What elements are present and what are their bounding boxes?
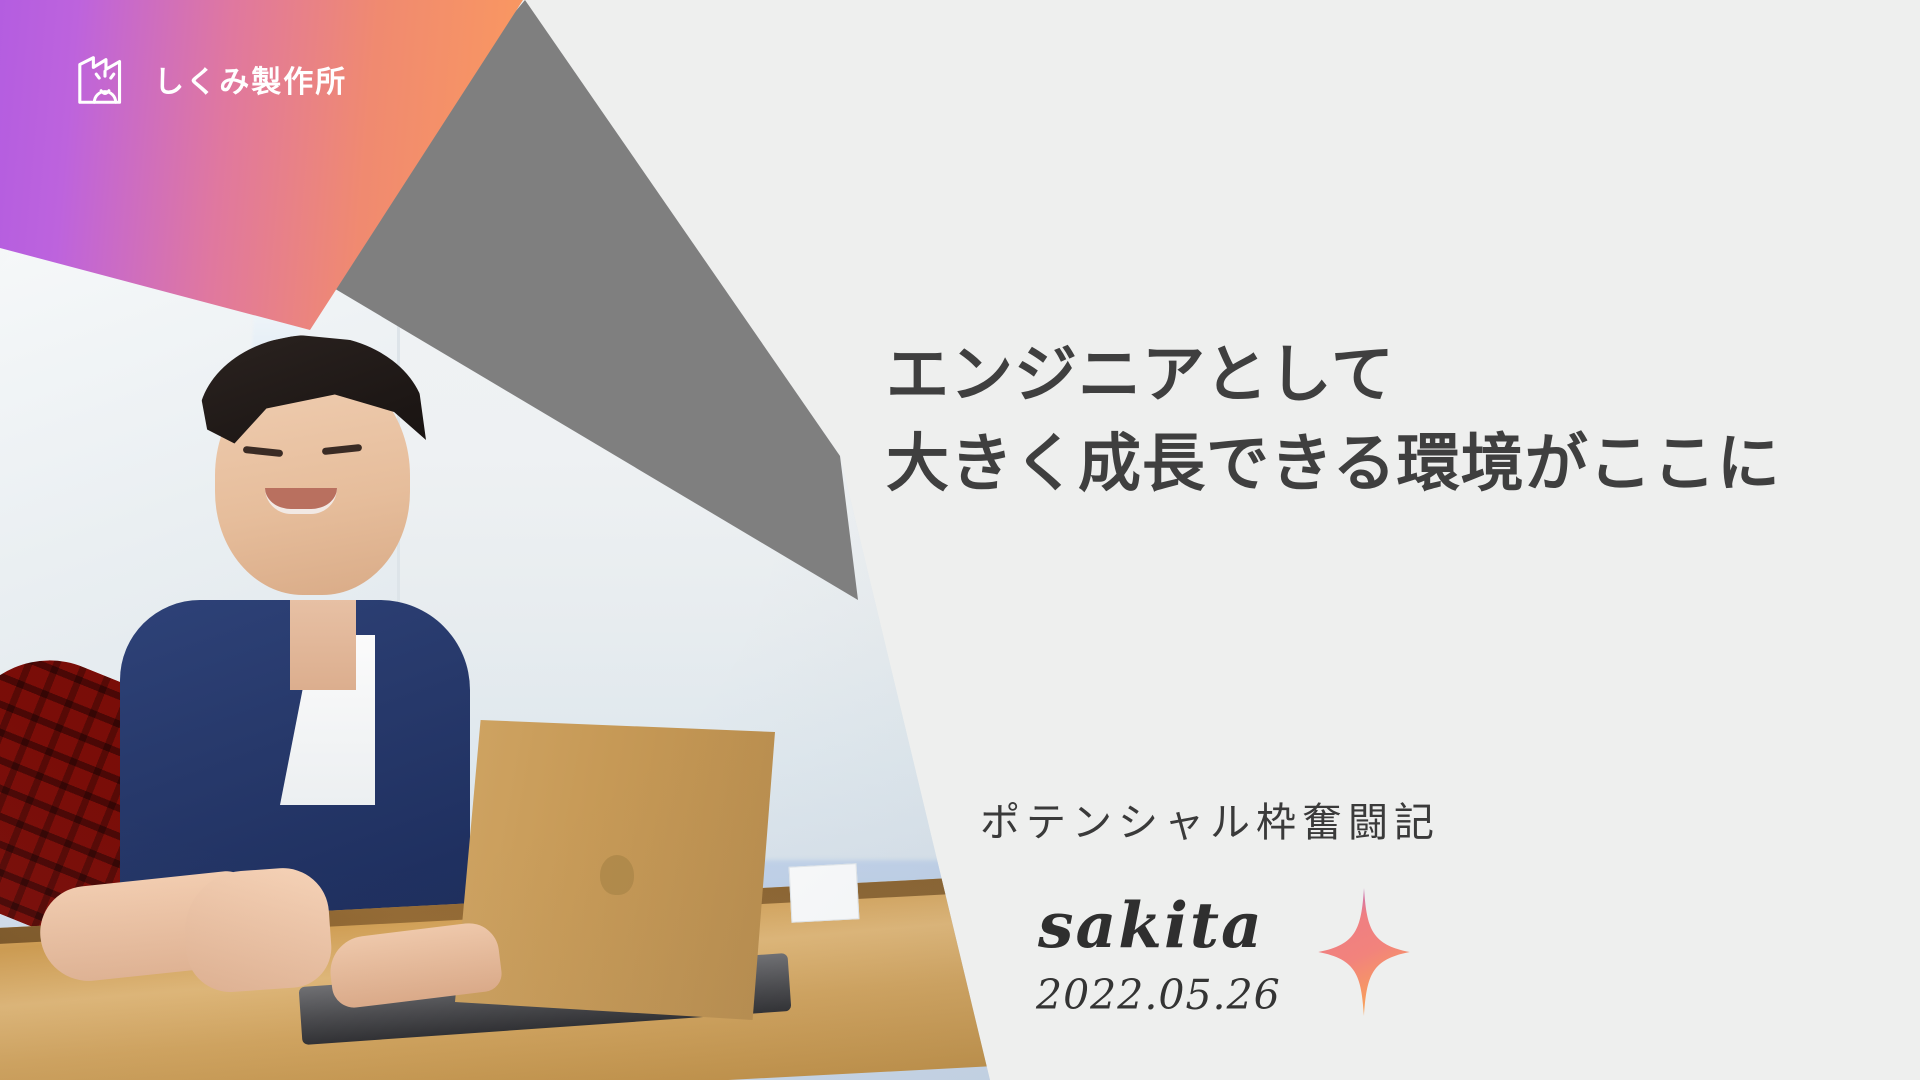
factory-sun-icon: [74, 48, 136, 110]
four-point-star-icon: [1318, 888, 1410, 1016]
hero-banner: しくみ製作所 エンジニアとして 大きく成長できる環境がここに ポテンシャル枠奮闘…: [0, 0, 1920, 1080]
publish-date: 2022.05.26: [980, 971, 1540, 1019]
series-label: ポテンシャル枠奮闘記: [980, 790, 1740, 848]
article-meta: ポテンシャル枠奮闘記 sakita 2022.05.26: [980, 790, 1740, 1019]
brand-name: しくみ製作所: [154, 57, 347, 101]
title-line-1: エンジニアとして: [886, 330, 1781, 419]
brand-logo[interactable]: しくみ製作所: [74, 48, 347, 110]
page-title: エンジニアとして 大きく成長できる環境がここに: [886, 330, 1781, 509]
byline: sakita 2022.05.26: [980, 894, 1540, 1019]
title-line-2: 大きく成長できる環境がここに: [886, 419, 1781, 508]
author-name: sakita: [980, 894, 1540, 957]
